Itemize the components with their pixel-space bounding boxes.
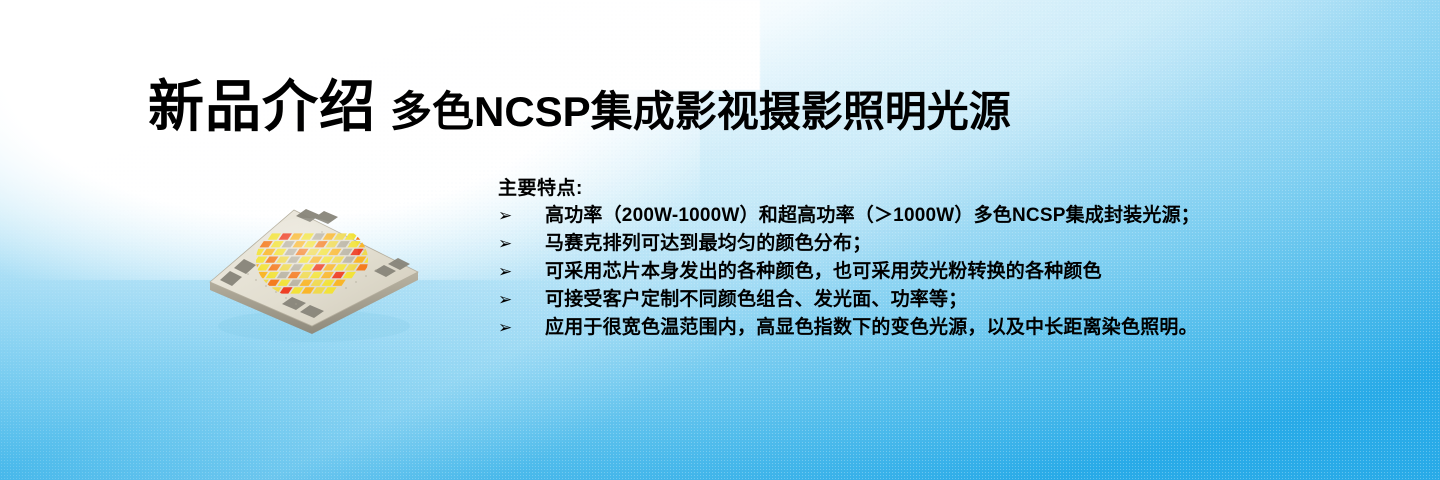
product-image [196,176,426,356]
led-module-illustration [196,176,426,356]
feature-text: 马赛克排列可达到最均匀的颜色分布； [545,230,871,258]
slide-title: 新品介绍 多色NCSP集成影视摄影照明光源 [148,79,1011,135]
feature-item: ➢ 马赛克排列可达到最均匀的颜色分布； [498,230,1398,258]
feature-text: 应用于很宽色温范围内，高显色指数下的变色光源，以及中长距离染色照明。 [545,314,1198,342]
feature-item: ➢ 可采用芯片本身发出的各种颜色，也可采用荧光粉转换的各种颜色 [498,258,1398,286]
feature-item: ➢ 高功率（200W-1000W）和超高功率（＞1000W）多色NCSP集成封装… [498,202,1398,230]
bullet-arrow-icon: ➢ [498,230,545,258]
features-block: 主要特点: ➢ 高功率（200W-1000W）和超高功率（＞1000W）多色NC… [498,176,1398,342]
title-sub-text: 多色NCSP集成影视摄影照明光源 [390,91,1011,133]
bullet-arrow-icon: ➢ [498,314,545,342]
bullet-arrow-icon: ➢ [498,286,545,314]
feature-item: ➢ 可接受客户定制不同颜色组合、发光面、功率等； [498,286,1398,314]
title-main-text: 新品介绍 [148,79,376,135]
feature-text: 可采用芯片本身发出的各种颜色，也可采用荧光粉转换的各种颜色 [545,258,1102,286]
slide-canvas: 新品介绍 多色NCSP集成影视摄影照明光源 [0,0,1440,480]
features-heading: 主要特点: [498,176,1398,202]
feature-item: ➢ 应用于很宽色温范围内，高显色指数下的变色光源，以及中长距离染色照明。 [498,314,1398,342]
bullet-arrow-icon: ➢ [498,258,545,286]
feature-text: 高功率（200W-1000W）和超高功率（＞1000W）多色NCSP集成封装光源… [545,202,1200,230]
bullet-arrow-icon: ➢ [498,202,545,230]
feature-text: 可接受客户定制不同颜色组合、发光面、功率等； [545,286,967,314]
